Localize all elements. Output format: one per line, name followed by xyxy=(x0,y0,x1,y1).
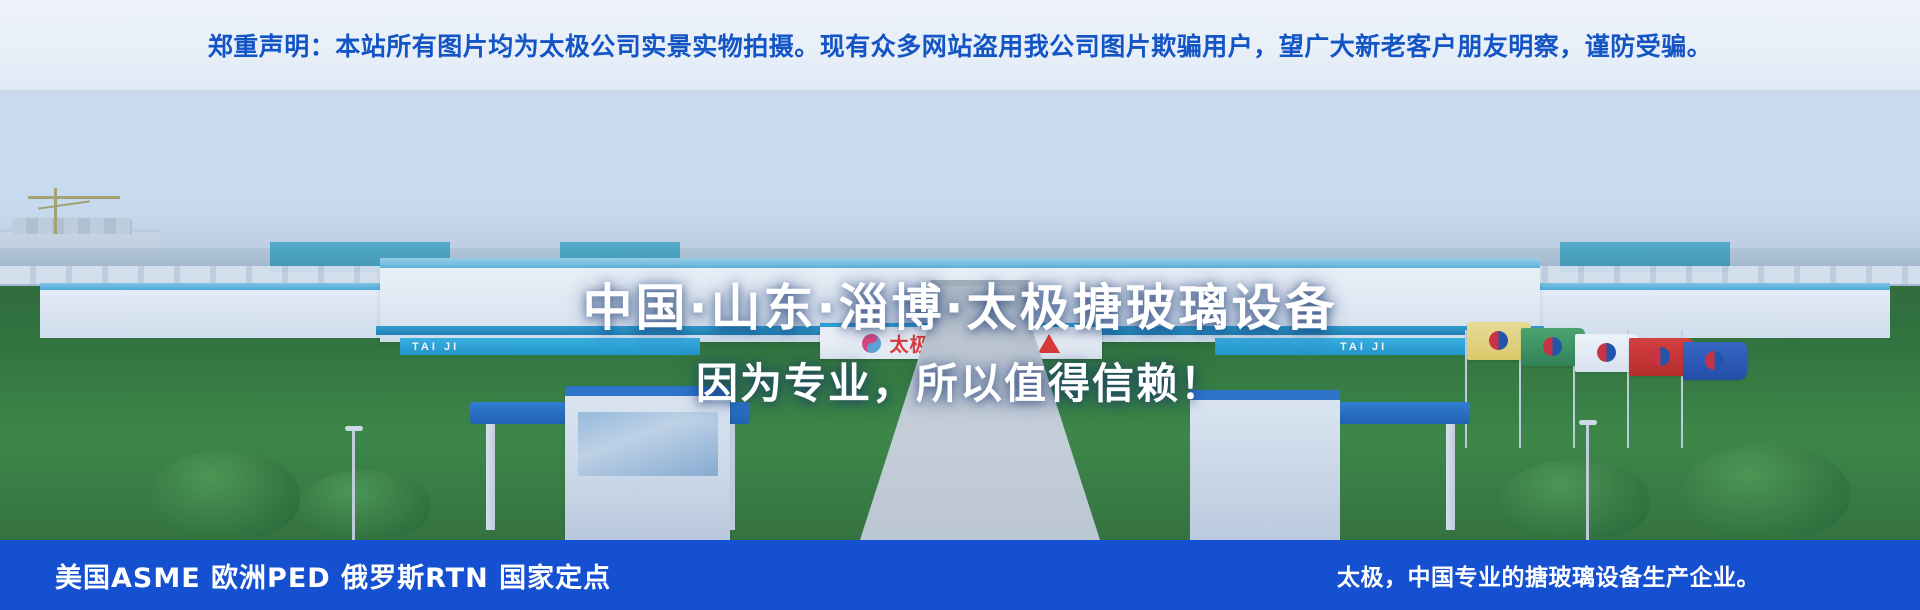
facade-band-right-label: TAI JI xyxy=(1215,341,1387,353)
copyright-notice-strip: 郑重声明：本站所有图片均为太极公司实景实物拍摄。现有众多网站盗用我公司图片欺骗用… xyxy=(0,0,1920,90)
gatehouse-right xyxy=(1190,390,1340,540)
slogan-text: 太极，中国专业的搪玻璃设备生产企业。 xyxy=(1337,558,1760,592)
shrub xyxy=(1500,460,1650,540)
copyright-notice-text: 郑重声明：本站所有图片均为太极公司实景实物拍摄。现有众多网站盗用我公司图片欺骗用… xyxy=(208,27,1713,63)
facade-band-left-label: TAI JI xyxy=(400,341,459,353)
flag-blue xyxy=(1683,342,1747,380)
gatehouse-glass xyxy=(578,412,718,476)
arrow-up-icon xyxy=(1038,334,1060,353)
certifications-text: 美国ASME 欧洲PED 俄罗斯RTN 国家定点 xyxy=(55,556,611,595)
left-wing-building xyxy=(40,290,420,338)
flag-row xyxy=(1455,318,1735,448)
taiji-yin-yang-icon xyxy=(862,334,881,353)
facade-band-left: TAI JI xyxy=(400,338,700,355)
shrub xyxy=(150,450,300,540)
factory-photo: TAI JI TAI JI 太极搪玻璃设备 xyxy=(0,90,1920,540)
construction-crane-icon xyxy=(28,188,120,234)
credentials-bar: 美国ASME 欧洲PED 俄罗斯RTN 国家定点 太极，中国专业的搪玻璃设备生产… xyxy=(0,540,1920,610)
street-lamp xyxy=(352,426,355,540)
site-banner: 郑重声明：本站所有图片均为太极公司实景实物拍摄。现有众多网站盗用我公司图片欺骗用… xyxy=(0,0,1920,610)
street-lamp xyxy=(1586,420,1589,540)
shrub xyxy=(300,470,430,540)
shrub xyxy=(1680,445,1850,540)
